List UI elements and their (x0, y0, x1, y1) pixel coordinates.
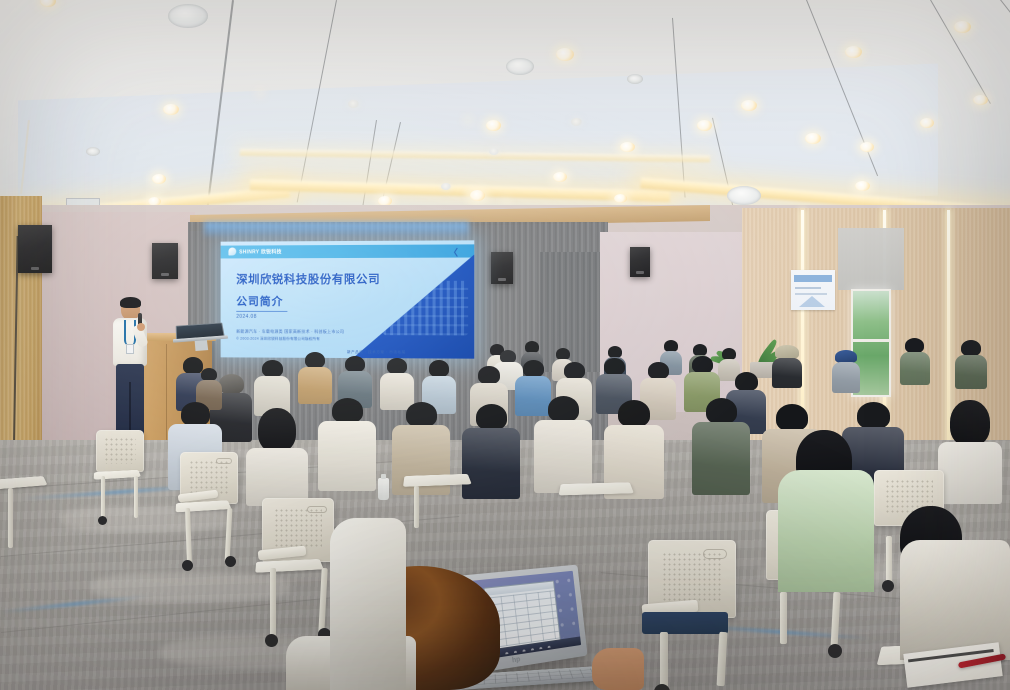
ceiling-downlight (855, 181, 870, 191)
chair-caster (882, 580, 894, 592)
chair-grip-handle (703, 549, 728, 558)
chair-grip-handle (307, 506, 327, 514)
projection-screen: SHINRY 欣锐科技 〈 深圳欣锐科技股份有限公司 公司简介 2024.08 … (221, 240, 475, 358)
chair-perforation (662, 552, 722, 602)
attendee-torso (955, 355, 987, 389)
ceiling-downlight (845, 46, 862, 58)
chair-grip-handle (216, 458, 232, 464)
chair-leg (886, 536, 892, 582)
ceiling-downlight (860, 142, 874, 152)
attendee-hair (305, 352, 325, 368)
slide-fine-print-2: © 2003-2024 深圳欣锐科技股份有限公司版权所有 (236, 337, 320, 342)
attendee-hair (181, 402, 210, 426)
presenter-hand (137, 323, 145, 331)
attendee-hair (692, 356, 713, 373)
chair-leg (101, 476, 105, 520)
ceiling-downlight (973, 95, 988, 105)
podium-laptop (176, 323, 226, 345)
ceiling-downlight-dim (571, 118, 582, 126)
attendee-long-hair (950, 400, 990, 446)
chair-tablet-arm[interactable] (559, 482, 634, 495)
attendee-hair (406, 402, 437, 427)
wall-speaker-center-left (152, 243, 178, 279)
attendee-hair (262, 360, 283, 377)
ceiling-speaker-disc (727, 186, 761, 205)
attendee-hair (905, 338, 924, 353)
chair-leg (717, 632, 728, 686)
chair-tablet-arm[interactable] (403, 474, 472, 487)
foreground-hand (592, 648, 644, 690)
ceiling (0, 0, 1010, 228)
chair-caster (828, 644, 842, 658)
ceiling-speaker-disc (506, 58, 534, 75)
lecture-chair[interactable] (180, 452, 242, 572)
attendee-cap (775, 345, 799, 359)
attendee-hair (857, 402, 890, 429)
poster-graphic (799, 296, 825, 307)
attendee-hair (429, 360, 449, 377)
foreground-attendee-left (330, 518, 406, 690)
chair-tablet-arm[interactable] (0, 476, 48, 490)
presenter (105, 299, 153, 447)
lecture-chair[interactable] (96, 430, 148, 526)
attendee-torso (900, 352, 930, 385)
attendee (254, 360, 290, 414)
attendee-hair (564, 362, 585, 379)
chair-leg (831, 592, 841, 648)
attendee (900, 338, 930, 384)
attendee-hair (332, 398, 363, 423)
attendee-torso (778, 470, 874, 592)
attendee-torso (832, 362, 860, 393)
wall-notice-poster (791, 270, 835, 310)
attendee-hand (592, 648, 644, 690)
slide-date: 2024.08 (236, 314, 256, 320)
lecture-chair[interactable] (648, 540, 740, 690)
chair-back (96, 430, 144, 472)
poster-header-bar (794, 275, 832, 282)
attendee-hair (648, 362, 669, 379)
wall-speaker-left (18, 225, 52, 273)
chair-leg (134, 476, 138, 518)
chair-leg (414, 486, 419, 528)
chair-perforation (189, 460, 228, 493)
chair-leg (318, 568, 327, 634)
slide-fine-print-1: 新能源汽车 · 车载电源类 国家高新技术 · 科创板上市公司 (236, 329, 344, 335)
lecture-chair[interactable] (0, 474, 56, 560)
chair-caster (225, 556, 236, 567)
attendee (318, 398, 376, 490)
attendee-hair (476, 404, 507, 430)
attendee-hair-gray (219, 374, 244, 394)
chair-leg (185, 508, 192, 564)
chair-caster (265, 634, 278, 647)
ceiling-downlight (954, 21, 971, 33)
shinry-logo-icon (228, 248, 236, 256)
conference-room-photo: SHINRY 欣锐科技 〈 深圳欣锐科技股份有限公司 公司简介 2024.08 … (0, 0, 1010, 690)
podium-panel-seam (166, 344, 167, 442)
ceiling-speaker-disc (168, 4, 208, 28)
ceiling-downlight (697, 120, 712, 131)
attendee-hair (618, 400, 650, 427)
chair-leg (225, 508, 233, 562)
ceiling-seam (1000, 0, 1010, 95)
slide-subtitle: 公司简介 (236, 293, 283, 309)
attendee-sleeve (330, 518, 406, 690)
attendee-hair (776, 404, 808, 431)
chair-leg (780, 592, 787, 644)
podium-laptop-stand (195, 339, 209, 351)
slide-footer-note: 新产品线 · 技术方案 · 市场布局 (347, 350, 406, 355)
attendee (692, 398, 750, 494)
attendee-hair (345, 356, 365, 372)
lecture-chair[interactable] (404, 470, 474, 530)
attendee-long-hair (258, 408, 296, 452)
attendee-hair (387, 358, 407, 374)
lecture-chair[interactable] (560, 478, 636, 534)
attendee (955, 340, 987, 388)
ceiling-downlight (620, 142, 635, 152)
ceiling-downlight-dim (348, 100, 359, 108)
chair-leg (8, 488, 13, 548)
attendee-with-cap (772, 345, 802, 387)
attendee-hair (706, 398, 737, 424)
attendee-hair (548, 396, 579, 422)
slide-logo: SHINRY 欣锐科技 (228, 247, 281, 255)
ceiling-detector-disc (86, 147, 100, 156)
attendee-hair (961, 340, 981, 356)
ceiling-downlight (486, 120, 501, 131)
chair-perforation (274, 508, 323, 549)
ceiling-downlight (470, 190, 485, 201)
carpet-blotch (90, 572, 290, 602)
slide-logo-text: SHINRY 欣锐科技 (239, 248, 282, 255)
chair-perforation (104, 437, 137, 464)
ceiling-downlight (152, 174, 166, 184)
projector-light-spill (204, 222, 469, 236)
attendee-hair (523, 360, 544, 377)
ceiling-downlight-dim (441, 183, 451, 190)
chair-leg (270, 568, 276, 638)
attendee-torso (692, 422, 750, 495)
foreground-attendee-right (778, 470, 874, 590)
ceiling-seam (930, 0, 991, 104)
slide-title: 深圳欣锐科技股份有限公司 (236, 271, 380, 287)
water-bottle[interactable] (378, 478, 389, 500)
poster-text-line (795, 293, 827, 295)
chair-caster (182, 560, 193, 571)
ceiling-downlight (805, 133, 821, 144)
window-blind (838, 228, 904, 290)
attendee (380, 358, 414, 408)
attendee-torso (772, 358, 802, 388)
ceiling-downlight (163, 104, 179, 115)
ceiling-downlight (920, 118, 934, 128)
chair-tablet-arm[interactable] (176, 500, 232, 512)
poster-text-line (795, 287, 821, 289)
chair-caster (98, 516, 107, 525)
ceiling-downlight (40, 0, 56, 7)
chair-tablet-arm[interactable] (255, 559, 323, 573)
attendee (246, 408, 308, 504)
ceiling-downlight (556, 48, 574, 61)
attendee-torso (318, 421, 376, 491)
wall-speaker-center-right (491, 252, 513, 284)
presenter-hair (120, 297, 141, 308)
attendee-hair (604, 358, 625, 375)
hp-logo: hp (512, 656, 521, 664)
chair-leg (660, 632, 668, 690)
wall-speaker-right (630, 247, 650, 277)
ceiling-detector-disc (627, 74, 643, 84)
ceiling-downlight (741, 100, 757, 111)
slide-corner-mark: 〈 (449, 245, 458, 258)
attendee-with-cap (832, 350, 860, 392)
chair-seat (642, 612, 728, 634)
slide-divider (236, 311, 287, 312)
presenter-badge (126, 344, 134, 354)
ceiling-downlight (614, 194, 627, 203)
attendee-hair (735, 372, 758, 391)
attendee (298, 352, 332, 402)
attendee-hair (478, 366, 500, 384)
ceiling-downlight (553, 172, 567, 182)
ceiling-downlight-dim (489, 148, 499, 155)
lecture-chair[interactable] (262, 498, 338, 648)
